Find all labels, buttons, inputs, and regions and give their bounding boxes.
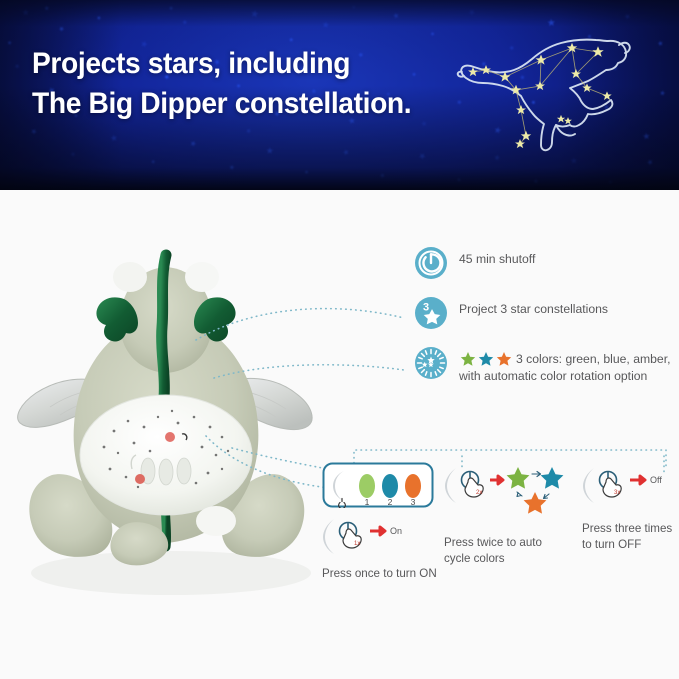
color-button-1: [359, 474, 375, 498]
arrow-icon: [490, 476, 503, 484]
blue-star-icon: [541, 467, 564, 489]
press-count-label: 2x: [476, 490, 482, 496]
background-star: ★: [657, 40, 664, 47]
feature-item: 3 Project 3 star constellations: [414, 296, 672, 330]
press-three-diagram: 3x Off: [582, 464, 679, 508]
background-star: ★: [43, 3, 52, 12]
color-button-3: [405, 474, 421, 498]
color-star-row: [459, 351, 513, 366]
product-infographic: ★★★★★★★★★★★★★★★★★★★★★★★★★★★★★★★★★★★★★★★★…: [0, 0, 679, 679]
feature-list: 45 min shutoff 3 Project 3 star constell…: [414, 246, 672, 402]
device-button-panel[interactable]: 1 2 3: [322, 462, 434, 508]
background-star: ★: [351, 4, 358, 11]
press-count-label: 3x: [614, 490, 620, 496]
step-caption: Press once to turn ON: [322, 566, 462, 582]
background-star: ★: [28, 127, 38, 138]
press-twice-step: 2x Press twice to auto cycle colors: [444, 464, 564, 566]
press-three-times-step: 3x Off Press three times to turn OFF: [582, 464, 679, 552]
step-caption: Press three times to turn OFF: [582, 521, 679, 552]
step-caption: Press twice to auto cycle colors: [444, 535, 564, 566]
background-star: ★: [379, 172, 387, 179]
dragon-ear-right: [185, 262, 219, 292]
usage-instructions: 1 2 3 1x On Press once to turn ON: [318, 462, 679, 582]
amber-star-icon: [497, 352, 511, 366]
background-star: ★: [95, 14, 102, 21]
background-star: ★: [659, 89, 668, 98]
background-star: ★: [244, 127, 253, 136]
background-star: ★: [607, 179, 614, 186]
background-star: ★: [21, 7, 32, 17]
background-star: ★: [455, 176, 462, 183]
press-once-step: 1 2 3 1x On Press once to turn ON: [322, 462, 462, 582]
color-button-2: [382, 474, 398, 498]
background-star: ★: [227, 164, 235, 171]
dragon-ear-left: [113, 262, 147, 292]
background-star: ★: [264, 144, 276, 156]
cycle-arrow-downleft: [544, 494, 550, 499]
feature-text: Project 3 star constellations: [459, 296, 608, 318]
background-star: ★: [416, 151, 428, 163]
moon-icon: [445, 468, 456, 503]
led-indicator-upper: [165, 432, 175, 442]
background-star: ★: [181, 17, 190, 26]
background-star: ★: [418, 119, 429, 129]
arrow-icon: [630, 476, 645, 484]
dragon-foot-pad-right: [196, 506, 236, 536]
background-star: ★: [531, 178, 539, 186]
background-star: ★: [5, 40, 12, 47]
cycle-arrow-upleft: [517, 492, 522, 497]
background-star: ★: [69, 150, 76, 158]
button-label-2: 2: [388, 497, 393, 507]
background-star: ★: [249, 9, 260, 20]
press-count-label: 1x: [354, 541, 360, 547]
timer-power-icon: [414, 246, 448, 280]
banner-headline: Projects stars, including The Big Dipper…: [32, 44, 411, 124]
button-label-3: 3: [411, 497, 416, 507]
led-indicator-lower: [135, 474, 145, 484]
star-count-badge: 3: [423, 302, 429, 314]
green-star-icon: [461, 352, 475, 366]
moon-icon: [323, 519, 334, 554]
blue-star-icon: [479, 352, 493, 366]
feature-text-with-stars: 3 colors: green, blue, amber, with autom…: [459, 346, 672, 386]
plush-dragon-product-image: [6, 225, 336, 600]
feature-item: 45 min shutoff: [414, 246, 672, 280]
cycle-arrow-right: [532, 472, 541, 477]
background-star: ★: [149, 157, 157, 165]
big-dipper-constellation-graphic: [448, 26, 633, 176]
background-star: ★: [466, 6, 478, 18]
result-label: Off: [650, 475, 662, 485]
result-label: On: [390, 526, 402, 536]
button-label-1: 1: [365, 497, 370, 507]
background-star: ★: [390, 11, 401, 21]
hero-banner: ★★★★★★★★★★★★★★★★★★★★★★★★★★★★★★★★★★★★★★★★…: [0, 0, 679, 190]
amber-star-icon: [524, 492, 547, 514]
press-twice-diagram: 2x: [444, 464, 566, 522]
background-star: ★: [188, 139, 199, 150]
background-star: ★: [57, 25, 66, 34]
moon-icon: [583, 468, 594, 503]
projector-belly-panel: [80, 395, 252, 515]
arrow-icon: [370, 527, 385, 535]
background-star: ★: [640, 131, 652, 142]
background-star: ★: [411, 71, 419, 79]
background-star: ★: [320, 18, 332, 30]
green-star-icon: [507, 467, 530, 489]
background-star: ★: [340, 147, 351, 158]
background-star: ★: [14, 62, 21, 69]
feature-item: 3 colors: green, blue, amber, with autom…: [414, 346, 672, 386]
three-star-icon: 3: [414, 296, 448, 330]
starburst-projection-icon: [414, 346, 448, 380]
background-star: ★: [167, 5, 174, 13]
feature-text: 45 min shutoff: [459, 246, 535, 268]
background-star: ★: [287, 35, 295, 43]
background-star: ★: [623, 11, 632, 20]
background-star: ★: [304, 170, 310, 177]
background-star: ★: [430, 30, 436, 37]
press-once-diagram: 1x On: [322, 515, 452, 555]
background-star: ★: [109, 133, 119, 143]
background-star: ★: [644, 157, 654, 167]
